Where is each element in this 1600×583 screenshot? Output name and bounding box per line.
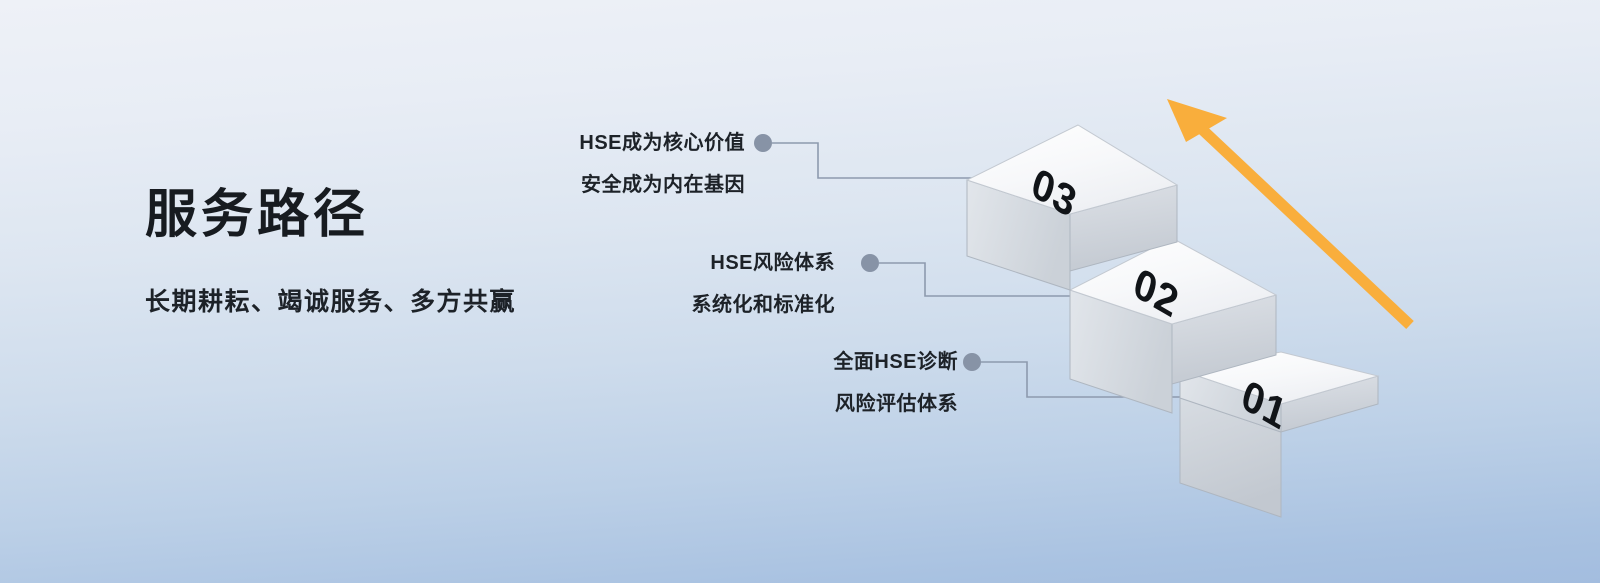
connector-dot-step-03 (754, 134, 772, 152)
connector-line-step-03 (772, 143, 990, 178)
callout-step-03-line2: 安全成为内在基因 (460, 175, 745, 195)
callout-step-02-line2: 系统化和标准化 (585, 295, 835, 315)
connector-dot-step-02 (861, 254, 879, 272)
arrow-head (1167, 99, 1227, 142)
callout-step-01-line1: 全面HSE诊断 (700, 352, 958, 372)
callout-step-01-line2: 风险评估体系 (700, 394, 958, 414)
callout-step-02: HSE风险体系 系统化和标准化 (585, 253, 835, 315)
callout-step-01: 全面HSE诊断 风险评估体系 (700, 352, 958, 414)
callout-step-03-line1: HSE成为核心价值 (460, 133, 745, 153)
connector-dot-step-01 (963, 353, 981, 371)
callout-step-02-line1: HSE风险体系 (585, 253, 835, 273)
service-path-infographic: 服务路径 长期耕耘、竭诚服务、多方共赢 HSE成为核心价值 安全成为内在基因 H… (0, 0, 1600, 583)
callout-step-03: HSE成为核心价值 安全成为内在基因 (460, 133, 745, 195)
